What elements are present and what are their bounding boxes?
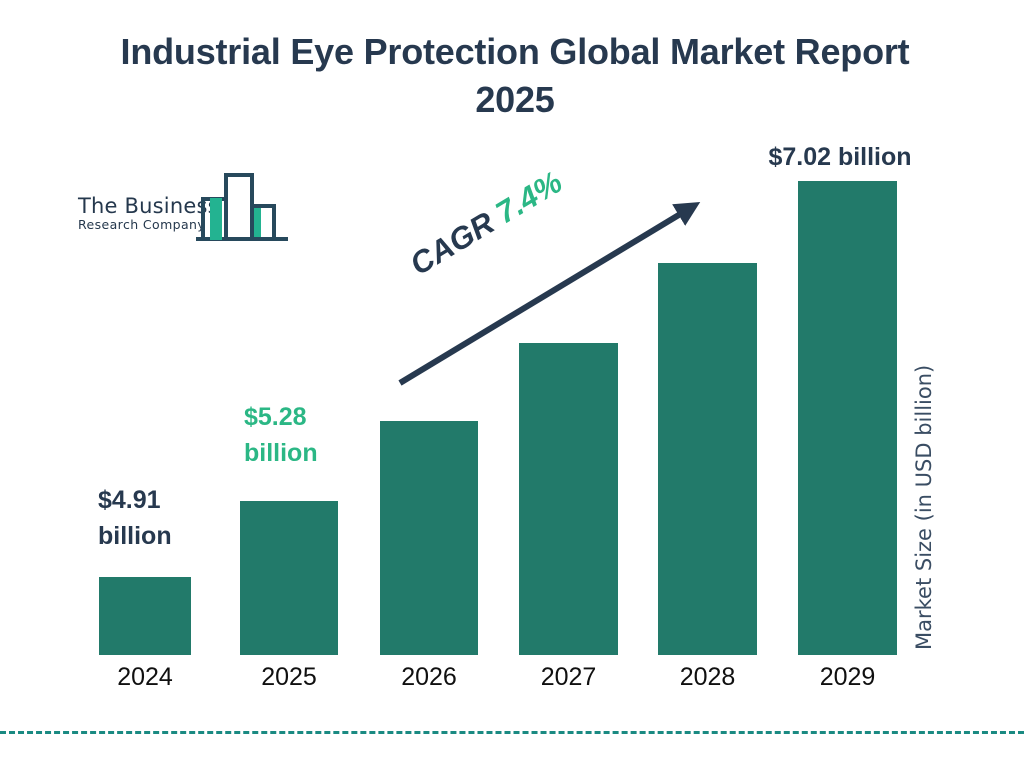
value-label-2029: $7.02 billion (700, 140, 980, 176)
footer-divider (0, 731, 1024, 734)
value-label-2025: $5.28 billion (244, 400, 374, 471)
chart-canvas: Industrial Eye Protection Global Market … (0, 0, 1024, 768)
plot-area: 2024 2025 2026 2027 2028 2029 (0, 0, 1024, 768)
value-label-2024: $4.91 billion (98, 483, 218, 554)
y-axis-title: Market Size (in USD billion) (912, 365, 936, 650)
growth-trend-arrow (0, 0, 1024, 768)
